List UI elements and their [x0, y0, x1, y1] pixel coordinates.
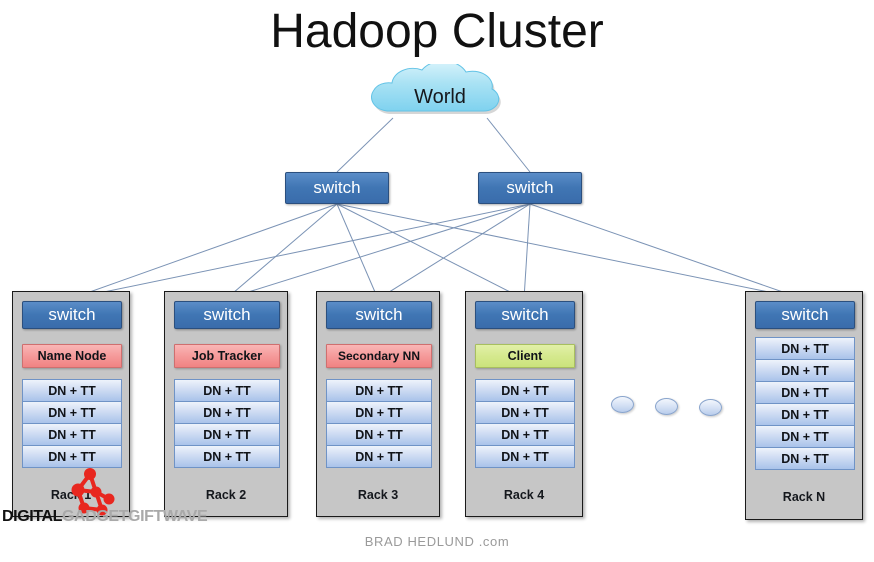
ellipsis-dot-2: [699, 399, 722, 416]
rack-4-nodes: Client DN + TT DN + TT DN + TT DN + TT: [475, 344, 575, 468]
link-core0-rack2: [226, 204, 337, 299]
rack-n-datanode-0-label: DN + TT: [781, 342, 829, 356]
rack-3-datanode-0[interactable]: DN + TT: [326, 379, 432, 402]
rack-n-datanode-4-label: DN + TT: [781, 430, 829, 444]
rack-2-datanode-0[interactable]: DN + TT: [174, 379, 280, 402]
rack-2-datanode-3[interactable]: DN + TT: [174, 445, 280, 468]
link-core0-rack4: [337, 204, 524, 299]
link-core1-rack2: [226, 204, 530, 299]
rack-3[interactable]: switch Secondary NN DN + TT DN + TT DN +…: [316, 291, 440, 517]
rack-4-datanode-3-label: DN + TT: [501, 450, 549, 464]
rack-1-datanode-3-label: DN + TT: [48, 450, 96, 464]
rack-1-datanode-2-label: DN + TT: [48, 428, 96, 442]
rack-n-datanode-2-label: DN + TT: [781, 386, 829, 400]
rack-n-label: Rack N: [746, 490, 862, 504]
rack-3-datanode-3-label: DN + TT: [355, 450, 403, 464]
rack-4-datanode-1-label: DN + TT: [501, 406, 549, 420]
rack-1-nodes: Name Node DN + TT DN + TT DN + TT DN + T…: [22, 344, 122, 468]
rack-3-switch[interactable]: switch: [326, 301, 432, 329]
rack-n-datanode-3[interactable]: DN + TT: [755, 403, 855, 426]
rack-n-switch-label: switch: [781, 305, 828, 325]
rack-3-secondary-nn-label: Secondary NN: [338, 349, 420, 363]
rack-1-switch[interactable]: switch: [22, 301, 122, 329]
rack-2-switch[interactable]: switch: [174, 301, 280, 329]
rack-n-datanode-2[interactable]: DN + TT: [755, 381, 855, 404]
core-switch-0[interactable]: switch: [285, 172, 389, 204]
rack-1-datanode-0-label: DN + TT: [48, 384, 96, 398]
rack-4[interactable]: switch Client DN + TT DN + TT DN + TT DN…: [465, 291, 583, 517]
rack-n-datanode-3-label: DN + TT: [781, 408, 829, 422]
rack-n-datanode-5[interactable]: DN + TT: [755, 447, 855, 470]
page-title: Hadoop Cluster: [0, 4, 874, 59]
rack-3-label: Rack 3: [317, 488, 439, 502]
rack-2-switch-label: switch: [203, 305, 250, 325]
rack-3-switch-label: switch: [355, 305, 402, 325]
watermark-dark-text: DIGITAL: [2, 508, 62, 525]
rack-3-datanode-2[interactable]: DN + TT: [326, 423, 432, 446]
rack-3-datanode-3[interactable]: DN + TT: [326, 445, 432, 468]
rack-1-datanode-3[interactable]: DN + TT: [22, 445, 122, 468]
rack-2-datanode-1-label: DN + TT: [203, 406, 251, 420]
ellipsis-dot-1: [655, 398, 678, 415]
rack-1-switch-label: switch: [48, 305, 95, 325]
rack-n-datanode-0[interactable]: DN + TT: [755, 337, 855, 360]
rack-1-datanode-1-label: DN + TT: [48, 406, 96, 420]
rack-n-datanode-5-label: DN + TT: [781, 452, 829, 466]
rack-3-datanode-1[interactable]: DN + TT: [326, 401, 432, 424]
rack-n-nodes: DN + TT DN + TT DN + TT DN + TT DN + TT …: [755, 338, 855, 470]
world-cloud: World: [352, 64, 528, 130]
rack-4-client-label: Client: [508, 349, 543, 363]
rack-4-client[interactable]: Client: [475, 344, 575, 368]
link-core0-rack1: [70, 204, 337, 299]
rack-2[interactable]: switch Job Tracker DN + TT DN + TT DN + …: [164, 291, 288, 517]
link-core1-rack1: [70, 204, 530, 299]
link-core1-rack3: [378, 204, 530, 299]
core-switch-0-label: switch: [313, 178, 360, 198]
rack-2-datanode-2[interactable]: DN + TT: [174, 423, 280, 446]
rack-4-switch[interactable]: switch: [475, 301, 575, 329]
watermark-light-text: GADGETGIFTWAVE: [62, 508, 207, 525]
rack-1-name-node-label: Name Node: [38, 349, 107, 363]
rack-1-datanode-0[interactable]: DN + TT: [22, 379, 122, 402]
rack-n-datanode-1[interactable]: DN + TT: [755, 359, 855, 382]
core-switch-1[interactable]: switch: [478, 172, 582, 204]
rack-3-nodes: Secondary NN DN + TT DN + TT DN + TT DN …: [326, 344, 432, 468]
rack-2-label: Rack 2: [165, 488, 287, 502]
link-core0-rack3: [337, 204, 378, 299]
rack-2-job-tracker[interactable]: Job Tracker: [174, 344, 280, 368]
link-core0-rackn: [337, 204, 803, 299]
rack-2-datanode-0-label: DN + TT: [203, 384, 251, 398]
rack-3-secondary-nn[interactable]: Secondary NN: [326, 344, 432, 368]
rack-1-name-node[interactable]: Name Node: [22, 344, 122, 368]
cloud-label: World: [352, 86, 528, 109]
rack-2-datanode-2-label: DN + TT: [203, 428, 251, 442]
link-core1-rackn: [530, 204, 803, 299]
rack-4-datanode-2-label: DN + TT: [501, 428, 549, 442]
rack-n-switch[interactable]: switch: [755, 301, 855, 329]
rack-4-datanode-1[interactable]: DN + TT: [475, 401, 575, 424]
rack-4-datanode-0[interactable]: DN + TT: [475, 379, 575, 402]
rack-n-datanode-4[interactable]: DN + TT: [755, 425, 855, 448]
rack-4-datanode-3[interactable]: DN + TT: [475, 445, 575, 468]
rack-2-nodes: Job Tracker DN + TT DN + TT DN + TT DN +…: [174, 344, 280, 468]
diagram-canvas: Hadoop Cluster: [0, 0, 874, 562]
rack-1-datanode-2[interactable]: DN + TT: [22, 423, 122, 446]
rack-n[interactable]: switch DN + TT DN + TT DN + TT DN + TT D…: [745, 291, 863, 520]
rack-3-datanode-0-label: DN + TT: [355, 384, 403, 398]
rack-4-datanode-0-label: DN + TT: [501, 384, 549, 398]
ellipsis-dot-0: [611, 396, 634, 413]
watermark-text: DIGITALGADGETGIFTWAVE: [2, 508, 207, 526]
rack-3-datanode-1-label: DN + TT: [355, 406, 403, 420]
rack-2-datanode-3-label: DN + TT: [203, 450, 251, 464]
core-switch-1-label: switch: [506, 178, 553, 198]
rack-4-switch-label: switch: [501, 305, 548, 325]
rack-4-datanode-2[interactable]: DN + TT: [475, 423, 575, 446]
rack-3-datanode-2-label: DN + TT: [355, 428, 403, 442]
credit-text: BRAD HEDLUND .com: [0, 534, 874, 549]
link-core1-rack4: [524, 204, 530, 299]
rack-2-job-tracker-label: Job Tracker: [192, 349, 262, 363]
rack-1-datanode-1[interactable]: DN + TT: [22, 401, 122, 424]
rack-n-datanode-1-label: DN + TT: [781, 364, 829, 378]
rack-4-label: Rack 4: [466, 488, 582, 502]
rack-2-datanode-1[interactable]: DN + TT: [174, 401, 280, 424]
